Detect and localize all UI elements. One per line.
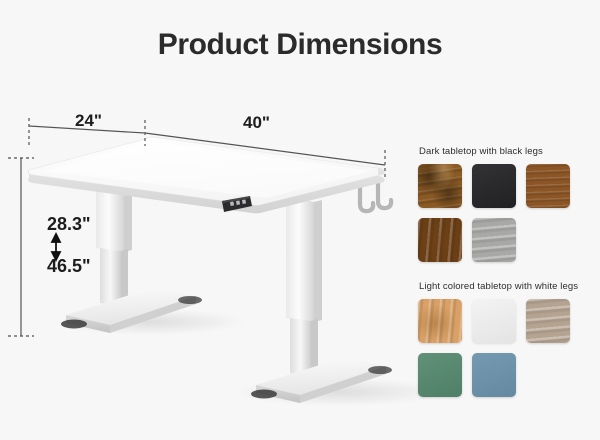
swatch-group-light-title: Light colored tabletop with white legs (419, 281, 578, 292)
swatch-gray-wood[interactable] (472, 218, 516, 262)
right-leg-column (286, 196, 322, 376)
swatch-medium-walnut-wood[interactable] (526, 164, 570, 208)
swatch-light-taupe-wood[interactable] (526, 299, 570, 343)
swatch-group-dark: Dark tabletop with black legs (418, 146, 570, 272)
height-min-label: 28.3" (47, 214, 91, 235)
swatch-light-oak-wood[interactable] (418, 299, 462, 343)
swatch-group-light: Light colored tabletop with white legs (418, 281, 578, 407)
swatch-white[interactable] (472, 299, 516, 343)
swatch-blue[interactable] (472, 353, 516, 397)
width-dimension-label: 40" (243, 113, 270, 133)
swatch-row (418, 164, 570, 208)
swatch-row (418, 353, 578, 397)
swatch-group-dark-title: Dark tabletop with black legs (419, 146, 570, 157)
swatch-row (418, 218, 570, 262)
swatch-green[interactable] (418, 353, 462, 397)
desk-tabletop (28, 137, 384, 213)
infographic-canvas: Product Dimensions (0, 0, 600, 440)
swatch-dark-walnut-wood[interactable] (418, 218, 462, 262)
swatch-row (418, 299, 578, 343)
swatch-rustic-brown-wood[interactable] (418, 164, 462, 208)
swatch-black[interactable] (472, 164, 516, 208)
accessory-hooks (360, 183, 391, 211)
depth-dimension-label: 24" (75, 111, 102, 131)
height-max-label: 46.5" (47, 256, 91, 277)
